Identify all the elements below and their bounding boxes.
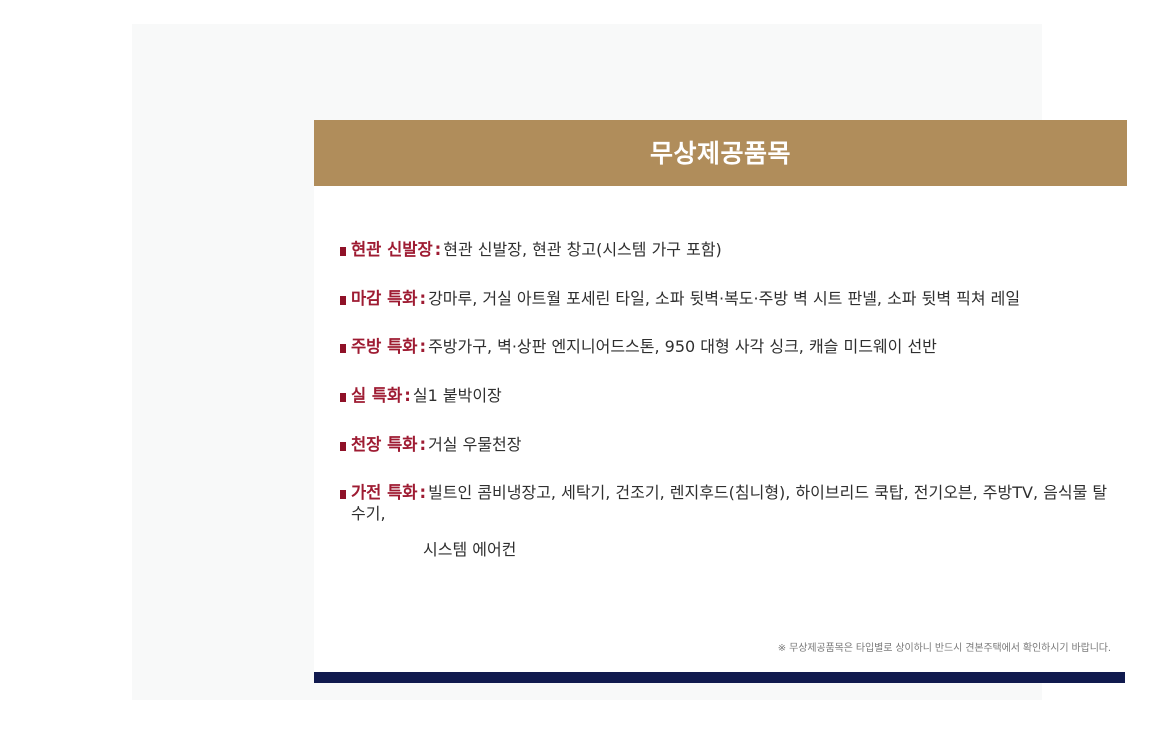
list-item: 천장 특화:거실 우물천장 <box>340 435 1109 456</box>
list-item: 마감 특화:강마루, 거실 아트월 포세린 타일, 소파 뒷벽·복도·주방 벽 … <box>340 289 1109 310</box>
list-item-value: 주방가구, 벽·상판 엔지니어드스톤, 950 대형 사각 싱크, 캐슬 미드웨… <box>428 337 937 356</box>
spec-list: 현관 신발장:현관 신발장, 현관 창고(시스템 가구 포함) 마감 특화:강마… <box>340 240 1109 588</box>
list-item-label: 천장 특화 <box>351 435 417 454</box>
list-item-value: 실1 붙박이장 <box>413 386 502 405</box>
bullet-square-icon <box>340 490 346 499</box>
list-item-label: 마감 특화 <box>351 289 417 308</box>
list-item-label: 현관 신발장 <box>351 240 433 259</box>
bottom-accent-bar <box>314 672 1125 683</box>
slide-panel: 무상제공품목 현관 신발장:현관 신발장, 현관 창고(시스템 가구 포함) 마… <box>132 24 1042 700</box>
footnote-note: ※ 무상제공품목은 타입별로 상이하니 반드시 견본주택에서 확인하시기 바랍니… <box>778 639 1111 654</box>
list-item-separator: : <box>417 435 428 454</box>
list-item-label: 가전 특화 <box>351 483 417 502</box>
bullet-square-icon <box>340 442 346 451</box>
content-card: 현관 신발장:현관 신발장, 현관 창고(시스템 가구 포함) 마감 특화:강마… <box>314 186 1127 672</box>
bullet-square-icon <box>340 296 346 305</box>
list-item-separator: : <box>417 337 428 356</box>
list-item-value-continued: 시스템 에어컨 <box>351 540 1109 560</box>
list-item-body: 실 특화:실1 붙박이장 <box>351 386 1109 407</box>
bullet-square-icon <box>340 344 346 353</box>
list-item-separator: : <box>402 386 413 405</box>
bullet-square-icon <box>340 247 346 256</box>
list-item-value: 현관 신발장, 현관 창고(시스템 가구 포함) <box>443 240 722 259</box>
list-item-value: 강마루, 거실 아트월 포세린 타일, 소파 뒷벽·복도·주방 벽 시트 판넬,… <box>428 289 1020 308</box>
list-item: 실 특화:실1 붙박이장 <box>340 386 1109 407</box>
list-item-body: 마감 특화:강마루, 거실 아트월 포세린 타일, 소파 뒷벽·복도·주방 벽 … <box>351 289 1109 310</box>
list-item-value: 거실 우물천장 <box>428 435 521 454</box>
list-item: 가전 특화:빌트인 콤비냉장고, 세탁기, 건조기, 렌지후드(침니형), 하이… <box>340 483 1109 560</box>
list-item-body: 주방 특화:주방가구, 벽·상판 엔지니어드스톤, 950 대형 사각 싱크, … <box>351 337 1109 358</box>
list-item-body: 가전 특화:빌트인 콤비냉장고, 세탁기, 건조기, 렌지후드(침니형), 하이… <box>351 483 1109 560</box>
list-item-body: 현관 신발장:현관 신발장, 현관 창고(시스템 가구 포함) <box>351 240 1109 261</box>
page-title: 무상제공품목 <box>650 141 791 166</box>
list-item: 주방 특화:주방가구, 벽·상판 엔지니어드스톤, 950 대형 사각 싱크, … <box>340 337 1109 358</box>
bullet-square-icon <box>340 393 346 402</box>
list-item-value: 빌트인 콤비냉장고, 세탁기, 건조기, 렌지후드(침니형), 하이브리드 쿡탑… <box>351 483 1107 523</box>
list-item-separator: : <box>417 483 428 502</box>
section-header-bar: 무상제공품목 <box>314 120 1127 186</box>
list-item-label: 실 특화 <box>351 386 402 405</box>
list-item-separator: : <box>433 240 444 259</box>
list-item-body: 천장 특화:거실 우물천장 <box>351 435 1109 456</box>
list-item-separator: : <box>417 289 428 308</box>
list-item-label: 주방 특화 <box>351 337 417 356</box>
list-item: 현관 신발장:현관 신발장, 현관 창고(시스템 가구 포함) <box>340 240 1109 261</box>
